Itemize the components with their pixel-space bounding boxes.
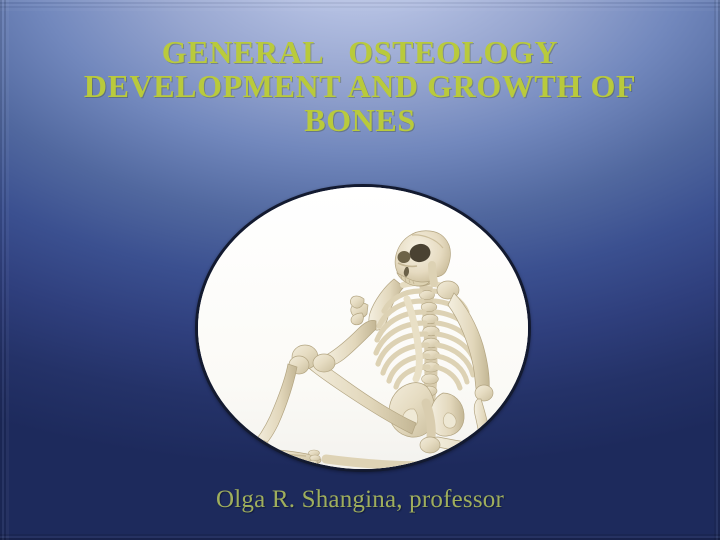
top-edge-band: [0, 0, 720, 16]
title-line-2: DEVELOPMENT AND GROWTH OF: [20, 70, 700, 104]
skeleton-image-frame[interactable]: [195, 184, 531, 472]
human-skeleton-icon: [198, 187, 528, 469]
bottom-edge-band: [0, 530, 720, 540]
left-edge-band: [0, 0, 14, 540]
title-line-1: GENERAL OSTEOLOGY: [20, 36, 700, 70]
title-line-3: BONES: [20, 104, 700, 138]
right-edge-band: [710, 0, 720, 540]
presentation-slide: GENERAL OSTEOLOGY DEVELOPMENT AND GROWTH…: [0, 0, 720, 540]
slide-title: GENERAL OSTEOLOGY DEVELOPMENT AND GROWTH…: [20, 36, 700, 138]
author-subtitle: Olga R. Shangina, professor: [0, 486, 720, 514]
